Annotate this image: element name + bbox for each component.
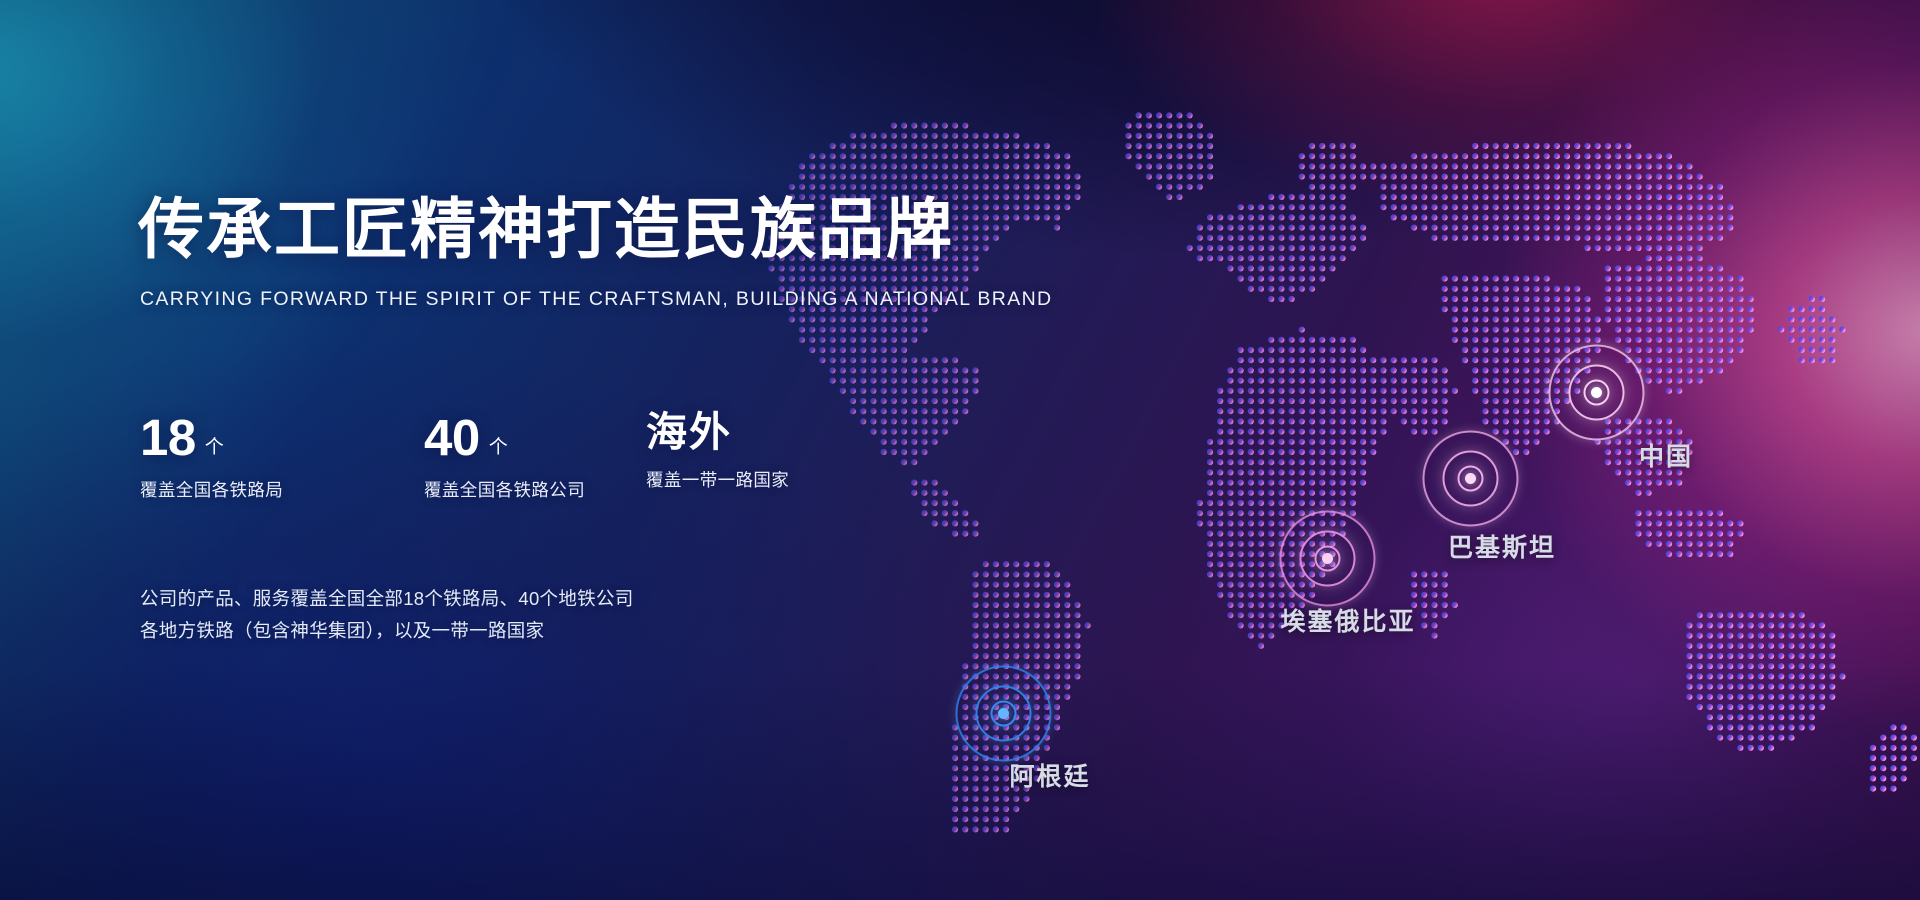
stat-item: 18个覆盖全国各铁路局 (140, 412, 424, 502)
map-marker-label: 埃塞俄比亚 (1280, 602, 1415, 638)
description-line-1: 公司的产品、服务覆盖全国全部18个铁路局、40个地铁公司 (140, 583, 634, 615)
page-title: 传承工匠精神打造民族品牌 (138, 196, 1038, 262)
map-marker[interactable] (1596, 392, 1597, 393)
map-marker[interactable] (1003, 713, 1004, 714)
marker-core-dot (1465, 473, 1476, 484)
stat-number-row: 海外 (646, 412, 789, 453)
stat-number: 40 (424, 412, 480, 463)
marker-core-dot (1591, 387, 1602, 398)
description-line-2: 各地方铁路（包含神华集团），以及一带一路国家 (140, 615, 634, 647)
map-marker-label: 中国 (1639, 437, 1693, 473)
hero-text-block: 传承工匠精神打造民族品牌 CARRYING FORWARD THE SPIRIT… (138, 196, 1038, 311)
stats-row: 18个覆盖全国各铁路局40个覆盖全国各铁路公司海外覆盖一带一路国家 (140, 412, 789, 502)
stat-number: 海外 (646, 412, 732, 453)
stat-unit: 个 (205, 432, 224, 459)
stat-item: 40个覆盖全国各铁路公司 (424, 412, 646, 502)
stat-unit: 个 (489, 432, 508, 459)
stat-caption: 覆盖全国各铁路局 (140, 477, 424, 502)
hero-banner: 传承工匠精神打造民族品牌 CARRYING FORWARD THE SPIRIT… (0, 0, 1920, 900)
stat-caption: 覆盖一带一路国家 (646, 467, 789, 492)
stat-item: 海外覆盖一带一路国家 (646, 412, 789, 502)
map-marker[interactable] (1470, 478, 1471, 479)
marker-core-dot (998, 708, 1009, 719)
map-marker-label: 巴基斯坦 (1448, 528, 1556, 564)
page-subtitle: CARRYING FORWARD THE SPIRIT OF THE CRAFT… (140, 288, 1038, 311)
stat-number-row: 18个 (140, 412, 424, 463)
map-marker[interactable] (1327, 558, 1328, 559)
map-marker-label: 阿根廷 (1009, 757, 1090, 793)
description-paragraph: 公司的产品、服务覆盖全国全部18个铁路局、40个地铁公司 各地方铁路（包含神华集… (140, 583, 634, 647)
marker-core-dot (1322, 553, 1333, 564)
stat-number: 18 (140, 412, 196, 463)
stat-caption: 覆盖全国各铁路公司 (424, 477, 646, 502)
stat-number-row: 40个 (424, 412, 646, 463)
